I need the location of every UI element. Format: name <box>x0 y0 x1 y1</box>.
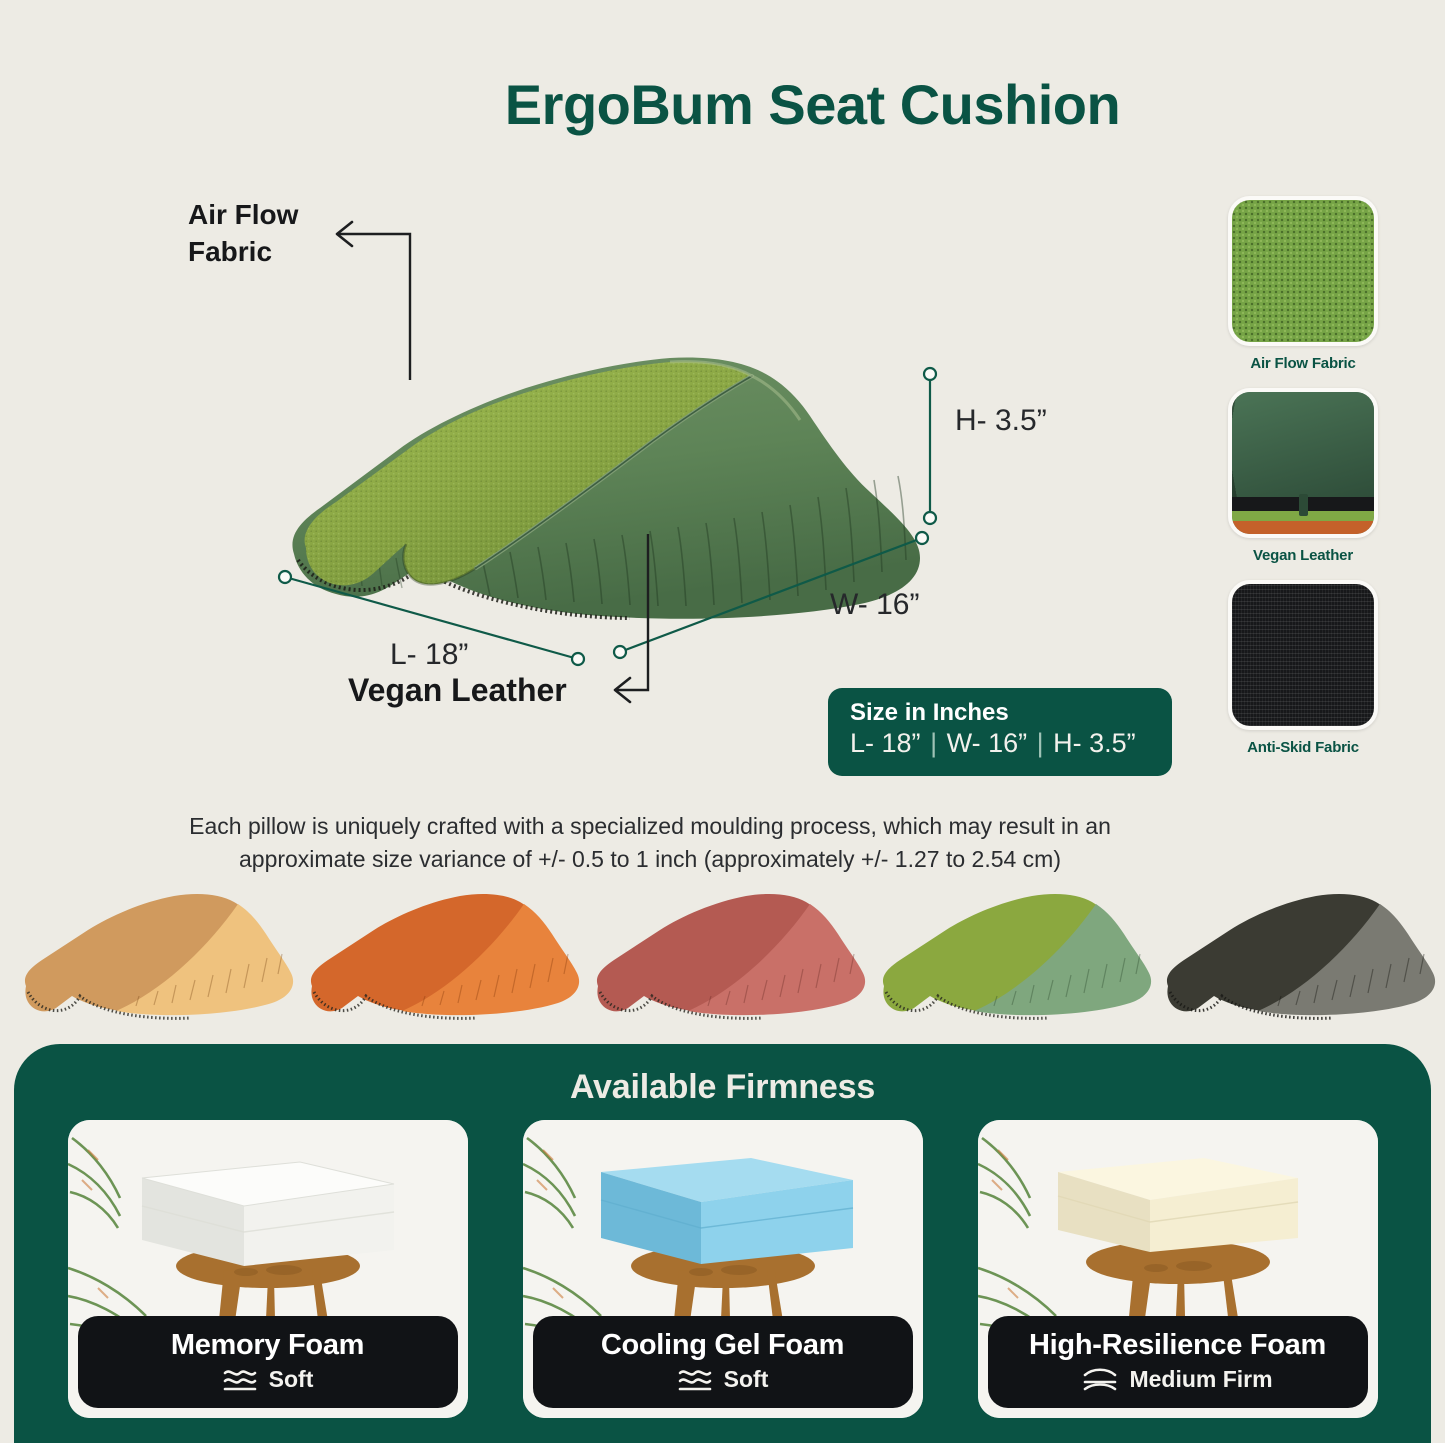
high-resilience-foam-label-bar: High-Resilience Foam Medium Firm <box>988 1316 1368 1408</box>
size-variance-disclaimer: Each pillow is uniquely crafted with a s… <box>140 810 1160 875</box>
memory-foam-firmness: Soft <box>269 1366 314 1393</box>
firmness-card-high-resilience-foam[interactable]: High-Resilience Foam Medium Firm <box>978 1120 1378 1418</box>
variant-rust[interactable] <box>582 868 872 1028</box>
color-variant-row <box>0 868 1445 1028</box>
swatch-anti-skid-fabric-image <box>1228 580 1378 730</box>
swatch-anti-skid-fabric-label: Anti-Skid Fabric <box>1228 739 1378 756</box>
cooling-gel-foam-label-bar: Cooling Gel Foam Soft <box>533 1316 913 1408</box>
variant-orange[interactable] <box>296 868 586 1028</box>
swatch-air-flow-fabric-label: Air Flow Fabric <box>1228 355 1378 372</box>
high-resilience-foam-block <box>1058 1158 1298 1252</box>
dimension-width-label: W- 16” <box>830 588 919 622</box>
size-badge-separator-1: | <box>928 728 939 758</box>
infographic-page: ErgoBum Seat Cushion Air Flow Fabric <box>0 0 1445 1443</box>
swatch-anti-skid-fabric: Anti-Skid Fabric <box>1228 580 1378 756</box>
size-badge-width: W- 16” <box>947 728 1028 758</box>
size-badge-length: L- 18” <box>850 728 921 758</box>
available-firmness-panel: Available Firmness <box>14 1044 1431 1443</box>
size-badge-values: L- 18” | W- 16” | H- 3.5” <box>850 727 1150 761</box>
callout-vegan-leather: Vegan Leather <box>348 672 567 709</box>
firmness-card-memory-foam[interactable]: Memory Foam Soft <box>68 1120 468 1418</box>
memory-foam-title: Memory Foam <box>88 1329 448 1361</box>
memory-foam-label-bar: Memory Foam Soft <box>78 1316 458 1408</box>
wave-soft-icon <box>677 1367 713 1393</box>
vegan-leather-leader-arrow-icon <box>600 530 690 710</box>
size-badge-height: H- 3.5” <box>1053 728 1136 758</box>
variant-tan[interactable] <box>10 868 300 1028</box>
swatch-vegan-leather-label: Vegan Leather <box>1228 547 1378 564</box>
swatch-air-flow-fabric: Air Flow Fabric <box>1228 196 1378 372</box>
variant-green[interactable] <box>868 868 1158 1028</box>
size-badge: Size in Inches L- 18” | W- 16” | H- 3.5” <box>828 688 1172 776</box>
firmness-card-list: Memory Foam Soft <box>14 1120 1431 1418</box>
memory-foam-firmness-row: Soft <box>88 1366 448 1393</box>
variant-dark-olive[interactable] <box>1152 868 1442 1028</box>
wave-soft-icon <box>222 1367 258 1393</box>
size-badge-separator-2: | <box>1035 728 1046 758</box>
swatch-vegan-leather: Vegan Leather <box>1228 388 1378 564</box>
available-firmness-heading: Available Firmness <box>14 1044 1431 1107</box>
high-resilience-foam-firmness: Medium Firm <box>1129 1366 1272 1393</box>
wave-medium-firm-icon <box>1082 1367 1118 1393</box>
cooling-gel-foam-title: Cooling Gel Foam <box>543 1329 903 1361</box>
cooling-gel-foam-firmness: Soft <box>724 1366 769 1393</box>
dimension-length-label: L- 18” <box>390 638 468 672</box>
high-resilience-foam-title: High-Resilience Foam <box>998 1329 1358 1361</box>
swatch-air-flow-fabric-image <box>1228 196 1378 346</box>
swatch-vegan-leather-image <box>1228 388 1378 538</box>
dimension-height-label: H- 3.5” <box>955 404 1047 438</box>
cooling-gel-foam-firmness-row: Soft <box>543 1366 903 1393</box>
material-swatch-list: Air Flow Fabric Vegan Leather Anti-Skid … <box>1228 196 1378 772</box>
firmness-card-cooling-gel-foam[interactable]: Cooling Gel Foam Soft <box>523 1120 923 1418</box>
high-resilience-foam-firmness-row: Medium Firm <box>998 1366 1358 1393</box>
size-badge-title: Size in Inches <box>850 699 1150 727</box>
